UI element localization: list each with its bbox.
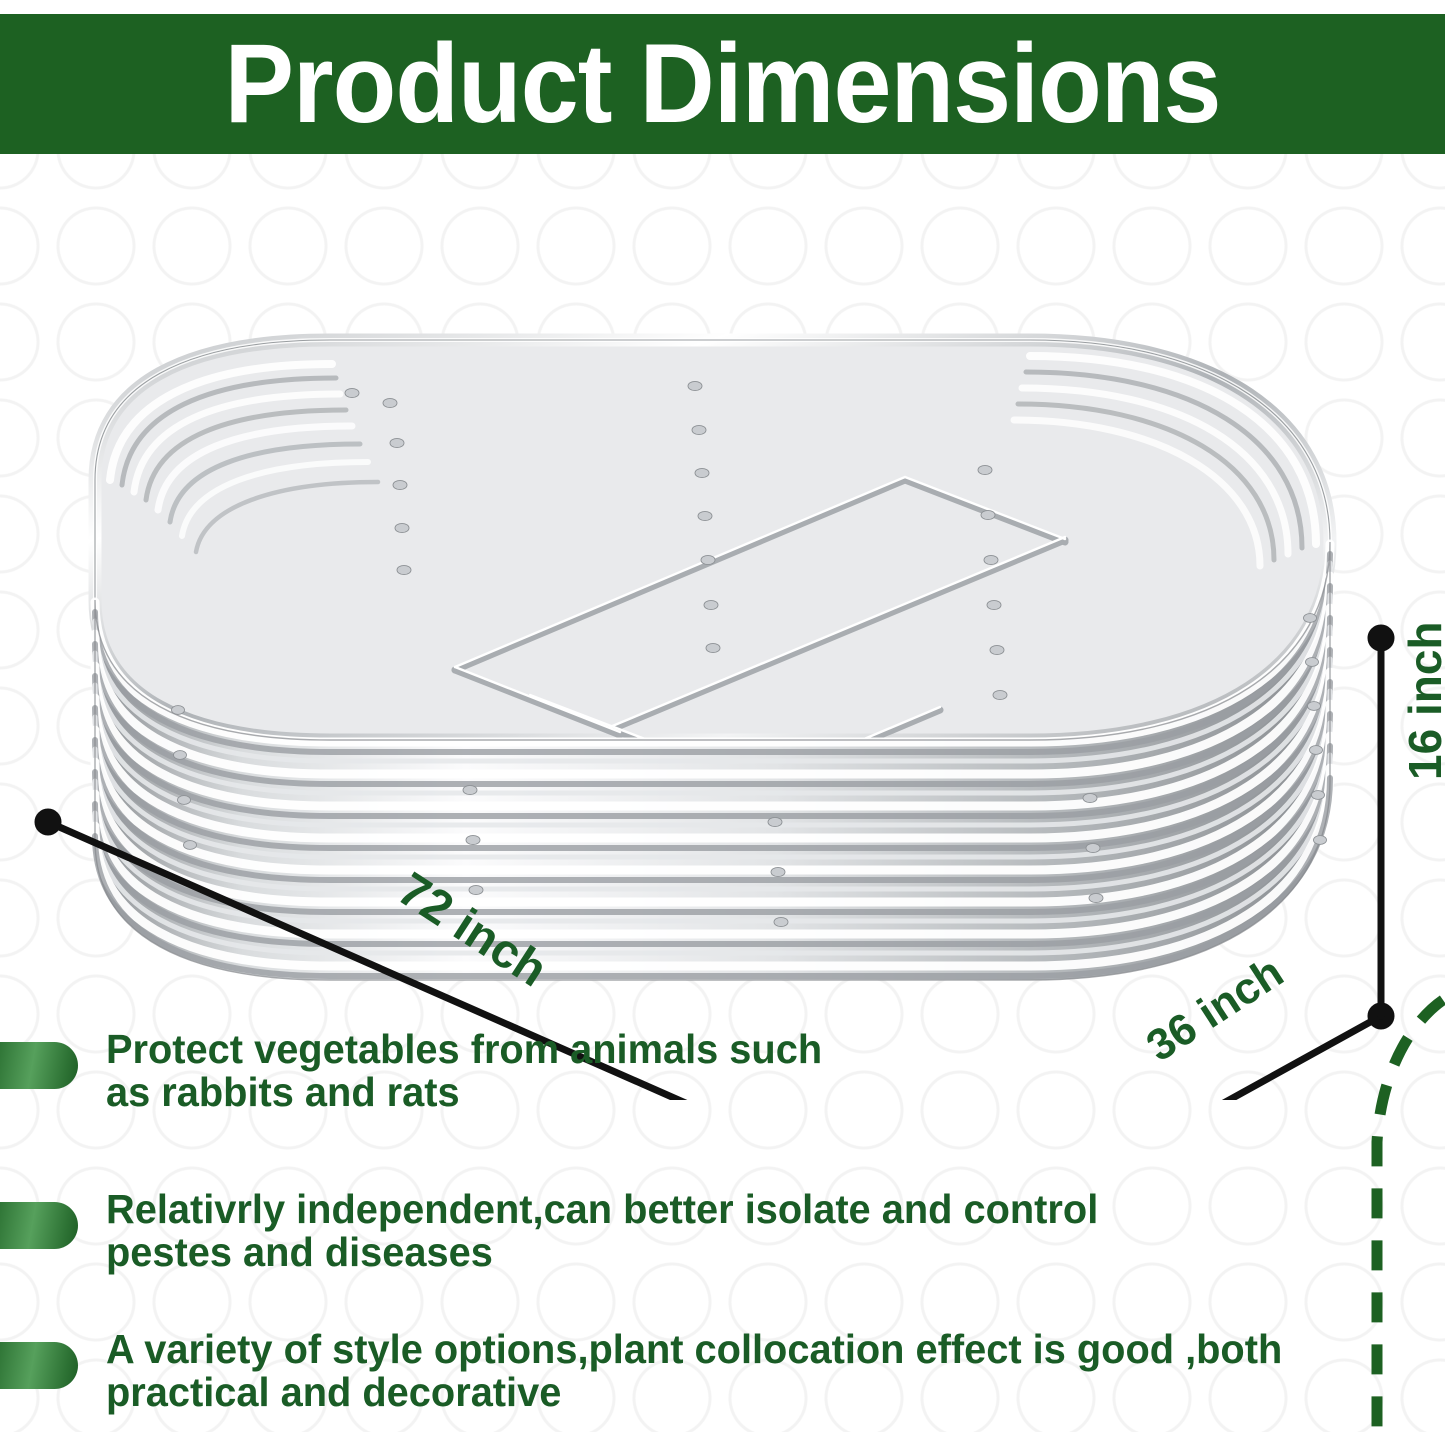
product-illustration [0,150,1445,1100]
feature-text: Relativrly independent,can better isolat… [106,1188,1098,1273]
feature-item: Relativrly independent,can better isolat… [0,1180,1445,1320]
header-banner: Product Dimensions [0,14,1445,154]
product-dimensions-infographic: Product Dimensions [0,0,1445,1432]
feature-list: Protect vegetables from animals such as … [0,1020,1445,1432]
dimension-label-height: 16 inch [1398,621,1445,780]
bullet-pill-icon [0,1342,78,1389]
bullet-pill-icon [0,1202,78,1249]
feature-text-line2: pestes and diseases [106,1231,1098,1274]
feature-text: Protect vegetables from animals such as … [106,1028,822,1113]
feature-text-line1: Protect vegetables from animals such [106,1028,822,1071]
feature-text-line1: A variety of style options,plant colloca… [106,1328,1282,1371]
feature-text: A variety of style options,plant colloca… [106,1328,1282,1413]
feature-item: A variety of style options,plant colloca… [0,1320,1445,1432]
garden-bed-body [95,340,1330,980]
feature-item: Protect vegetables from animals such as … [0,1020,1445,1180]
feature-text-line1: Relativrly independent,can better isolat… [106,1188,1098,1231]
dimension-line-height [1368,625,1394,1016]
feature-text-line2: practical and decorative [106,1371,1282,1414]
bullet-pill-icon [0,1042,78,1089]
page-title: Product Dimensions [224,28,1220,140]
feature-text-line2: as rabbits and rats [106,1071,822,1114]
